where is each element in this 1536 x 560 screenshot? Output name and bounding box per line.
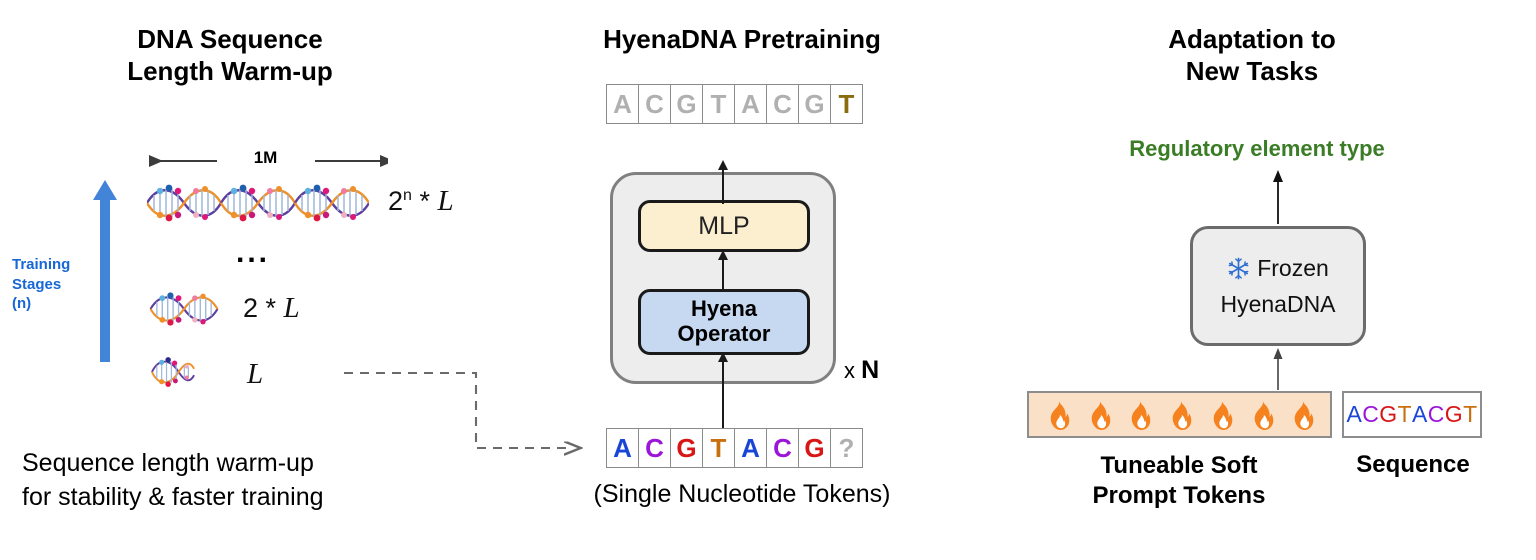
nucleotide-token-input: C	[766, 428, 799, 468]
sequence-nucleotide: G	[1445, 401, 1463, 428]
length-label-var: L	[437, 185, 453, 217]
panel-adaptation: Adaptation to New Tasks Regulatory eleme…	[972, 0, 1536, 560]
length-label-base: 2	[388, 186, 403, 216]
sequence-nucleotide: A	[1346, 401, 1362, 428]
ellipsis-dots: ...	[236, 238, 270, 268]
panel-dna-title-line1: DNA Sequence	[30, 24, 430, 56]
soft-prompt-flame-icon	[1126, 400, 1151, 430]
length-label-mult: *	[412, 186, 438, 216]
nucleotide-token-input: C	[638, 428, 671, 468]
sequence-nucleotide: A	[1412, 401, 1428, 428]
nucleotide-token-output: C	[638, 84, 671, 124]
hyena-operator-block: Hyena Operator	[638, 289, 810, 355]
training-stages-label: Training Stages (n)	[12, 255, 98, 314]
nucleotide-token-output: T	[702, 84, 735, 124]
nucleotide-token-output: A	[606, 84, 639, 124]
nucleotide-token-input: ?	[830, 428, 863, 468]
panel-adapt-title: Adaptation to New Tasks	[1052, 24, 1452, 87]
sequence-nucleotide: G	[1379, 401, 1397, 428]
soft-prompt-flame-icon	[1086, 400, 1111, 430]
length-label-var: L	[284, 292, 300, 324]
snowflake-icon	[1227, 257, 1250, 280]
frozen-status: Frozen	[1227, 255, 1329, 282]
training-stages-label-line1: Training	[12, 255, 98, 275]
frozen-hyenadna-box: Frozen HyenaDNA	[1190, 226, 1366, 346]
block-repeat-count: N	[861, 356, 879, 384]
nucleotide-token-input: G	[670, 428, 703, 468]
nucleotide-token-output: G	[798, 84, 831, 124]
panel-hyenadna-pretraining: HyenaDNA Pretraining ACGTACGT MLP Hyena …	[512, 0, 972, 560]
sequence-label: Sequence	[1340, 451, 1486, 479]
frozen-model-name: HyenaDNA	[1220, 291, 1335, 318]
arrow-inputs-to-model-icon	[1268, 348, 1288, 390]
sequence-nucleotide: T	[1398, 401, 1412, 428]
panel-adapt-title-line2: New Tasks	[1052, 56, 1452, 88]
sequence-nucleotide: C	[1428, 401, 1445, 428]
mlp-block: MLP	[638, 200, 810, 252]
soft-prompt-flame-icon	[1045, 400, 1070, 430]
block-repeat-label: x N	[844, 356, 879, 385]
regulatory-element-output-label: Regulatory element type	[1012, 136, 1502, 162]
sequence-nucleotide: T	[1463, 401, 1477, 428]
token-row-input: ACGTACG?	[606, 428, 863, 468]
token-row-output: ACGTACGT	[606, 84, 863, 124]
arrow-mlp-to-output-icon	[715, 160, 731, 204]
panel-dna-warmup: DNA Sequence Length Warm-up 1M	[0, 0, 512, 560]
nucleotide-tokens-caption: (Single Nucleotide Tokens)	[536, 480, 948, 509]
length-label-L: L	[247, 358, 263, 391]
soft-prompt-label-line1: Tuneable Soft	[1020, 451, 1338, 481]
nucleotide-token-output: G	[670, 84, 703, 124]
panel-dna-title-line2: Length Warm-up	[30, 56, 430, 88]
length-label-2-L: 2 * L	[243, 292, 300, 325]
length-label-var: L	[247, 358, 263, 390]
sequence-nucleotide: C	[1362, 401, 1379, 428]
training-stages-label-line2: Stages	[12, 275, 98, 295]
arrow-model-to-output-icon	[1268, 170, 1288, 224]
nucleotide-token-input: T	[702, 428, 735, 468]
training-stages-label-line3: (n)	[12, 294, 98, 314]
sequence-box: ACGTACGT	[1342, 391, 1482, 438]
soft-prompt-flame-icon	[1289, 400, 1314, 430]
length-label-mult: *	[258, 293, 284, 323]
nucleotide-token-output: T	[830, 84, 863, 124]
panel-adapt-title-line1: Adaptation to	[1052, 24, 1452, 56]
length-label-2n-L: 2n * L	[388, 185, 454, 218]
dna-helix-medium-icon	[147, 290, 221, 328]
soft-prompt-label-line2: Prompt Tokens	[1020, 481, 1338, 511]
dna-helix-long-icon	[147, 182, 369, 224]
nucleotide-token-input: A	[606, 428, 639, 468]
nucleotide-token-output: C	[766, 84, 799, 124]
soft-prompt-flame-icon	[1249, 400, 1274, 430]
arrow-tokens-to-block-icon	[715, 384, 731, 430]
soft-prompt-flame-icon	[1208, 400, 1233, 430]
block-repeat-prefix: x	[844, 358, 861, 383]
soft-prompt-flame-icon	[1167, 400, 1192, 430]
scale-label-1m: 1M	[143, 148, 388, 168]
dna-helix-short-icon	[147, 355, 199, 389]
nucleotide-token-input: A	[734, 428, 767, 468]
length-label-base: 2	[243, 293, 258, 323]
hyena-label-line2: Operator	[678, 321, 771, 346]
arrow-hyena-to-mlp-icon	[715, 250, 731, 292]
hyena-label-line1: Hyena	[691, 296, 757, 321]
nucleotide-token-input: G	[798, 428, 831, 468]
length-label-exp: n	[403, 187, 412, 204]
frozen-label: Frozen	[1257, 255, 1329, 282]
soft-prompt-tokens-box[interactable]	[1027, 391, 1332, 438]
panel-pretrain-title: HyenaDNA Pretraining	[522, 24, 962, 56]
panel-dna-title: DNA Sequence Length Warm-up	[30, 24, 430, 87]
soft-prompt-label: Tuneable Soft Prompt Tokens	[1020, 451, 1338, 511]
warmup-caption-line2: for stability & faster training	[22, 481, 462, 515]
nucleotide-token-output: A	[734, 84, 767, 124]
